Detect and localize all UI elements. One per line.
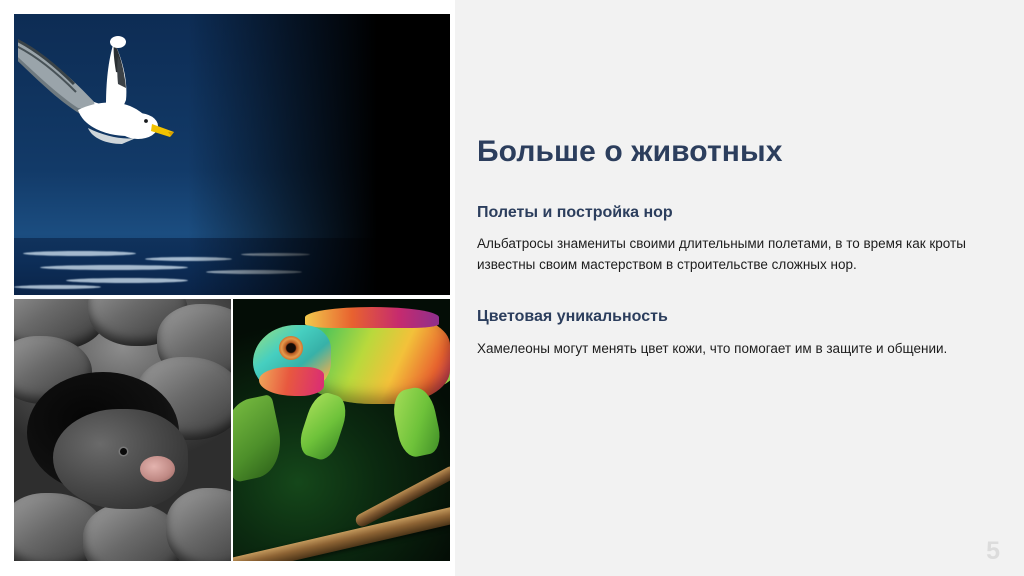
- section-body-flight-and-burrows: Альбатросы знамениты своими длительными …: [477, 233, 992, 276]
- page-title: Больше о животных: [477, 135, 992, 169]
- section-body-color-uniqueness: Хамелеоны могут менять цвет кожи, что по…: [477, 338, 992, 359]
- section-spacer: [477, 275, 992, 307]
- image-collage: [14, 14, 450, 561]
- text-block: Больше о животных Полеты и постройка нор…: [477, 135, 992, 359]
- mole-photo: [14, 299, 231, 561]
- page-number: 5: [986, 539, 1000, 564]
- section-heading-color-uniqueness: Цветовая уникальность: [477, 307, 992, 326]
- chameleon-photo: [233, 299, 450, 561]
- dark-gradient-overlay: [188, 14, 450, 295]
- albatross-photo: [14, 14, 450, 295]
- chameleon-eye: [279, 336, 303, 360]
- section-heading-flight-and-burrows: Полеты и постройка нор: [477, 203, 992, 222]
- content-panel: Больше о животных Полеты и постройка нор…: [455, 0, 1024, 576]
- chameleon-crest: [305, 307, 440, 328]
- mole-snout: [140, 456, 175, 482]
- albatross-icon: [18, 32, 198, 182]
- slide: Больше о животных Полеты и постройка нор…: [0, 0, 1024, 576]
